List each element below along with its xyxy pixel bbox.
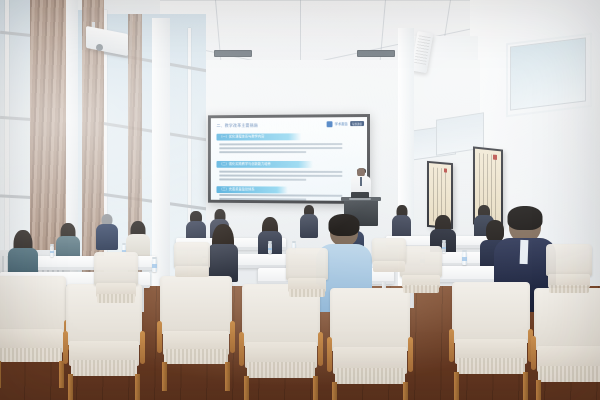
chair xyxy=(372,238,406,278)
shirt-collar xyxy=(520,240,529,264)
chair xyxy=(330,288,410,390)
slide-section-heading: （三）完善质量监控体系 xyxy=(216,186,287,193)
slide-paragraph xyxy=(219,194,360,201)
slide-logo-pill: 专题讲座 xyxy=(350,121,364,126)
ac-vent xyxy=(357,50,395,57)
slide-section-heading: （一）优化课程体系与教学内容 xyxy=(216,133,301,140)
chair xyxy=(286,248,328,300)
slide-logo-text: 学术报告 xyxy=(335,121,348,126)
conference-room-photo: white grid ceiling with linear AC diffus… xyxy=(0,0,600,400)
water-bottle xyxy=(462,252,467,265)
water-bottle xyxy=(152,259,157,272)
ac-vent xyxy=(214,50,252,57)
chair xyxy=(400,246,442,296)
chair xyxy=(452,282,530,380)
slide-paragraph xyxy=(219,171,360,183)
slide-logo: 学术报告 专题讲座 xyxy=(327,120,364,127)
chair xyxy=(160,276,232,370)
slide-paragraph xyxy=(219,143,360,155)
logo-mark-icon xyxy=(327,121,333,127)
presenter-tie xyxy=(360,177,362,186)
audience-person xyxy=(392,206,411,239)
chair xyxy=(546,244,592,296)
chair xyxy=(0,276,66,368)
chair xyxy=(534,288,600,388)
water-bottle xyxy=(50,246,54,257)
water-bottle xyxy=(268,243,272,254)
slide-section-heading: （二）强化实践教学与创新能力培养 xyxy=(216,161,312,168)
chair xyxy=(94,252,138,306)
audience-person xyxy=(208,226,238,282)
projector-lens xyxy=(96,44,103,51)
laptop xyxy=(349,192,371,200)
window-frame xyxy=(506,33,592,118)
audience-person xyxy=(96,214,118,250)
chair xyxy=(174,242,210,284)
projection-screen: 二、教学改革主要措施 学术报告 专题讲座 （一）优化课程体系与教学内容 （二）强… xyxy=(208,114,370,204)
water-bottle xyxy=(442,242,446,253)
slide-title: 二、教学改革主要措施 xyxy=(216,123,258,129)
presentation-slide: 二、教学改革主要措施 学术报告 专题讲座 （一）优化课程体系与教学内容 （二）强… xyxy=(211,117,367,201)
